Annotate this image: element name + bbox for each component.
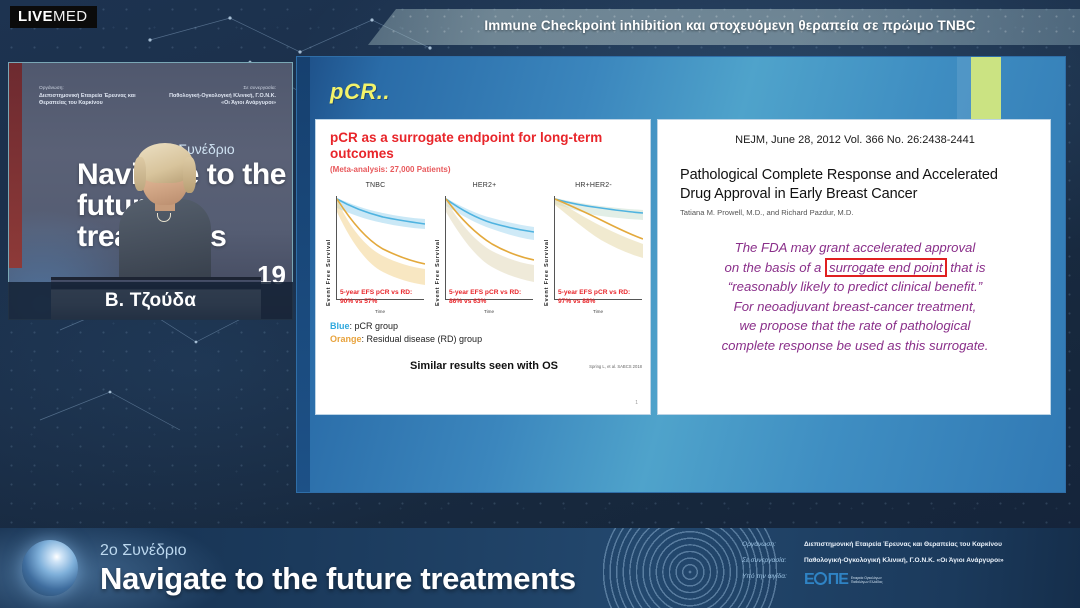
quote-line-2-prefix: on the basis of a [725,260,825,275]
logo-med-text: MED [53,8,88,25]
pcr-heading: pCR as a surrogate endpoint for long-ter… [330,130,630,162]
credit-auspices-label: Υπό την αιγίδα: [742,572,804,581]
backdrop-cooperation-value: Παθολογική-Ογκολογική Κλινική, Γ.Ο.Ν.Κ. … [161,93,276,108]
credit-row-organizer: Οργάνωση: Διεπιστημονική Εταιρεία Έρευνα… [742,540,1072,549]
quote-line-2-suffix: that is [947,260,986,275]
fda-quote: The FDA may grant accelerated approval o… [674,238,1036,355]
chart-tnbc-annotation: 5-year EFS pCR vs RD: 90% vs 57% [340,288,424,306]
credit-row-cooperation: Σε συνεργασία: Παθολογική-Ογκολογική Κλι… [742,556,1072,565]
chart-tnbc-title: TNBC [324,182,427,189]
chart-her2pos-plot [445,196,533,300]
quote-line-6: complete response be used as this surrog… [722,338,989,353]
eope-logo-circle [814,572,827,585]
chart-citation: Spring L, et al. SABCS 2018 [589,364,642,369]
banner-orb-logo [22,540,78,596]
legend-orange-row: Orange: Residual disease (RD) group [330,333,482,346]
speaker-figure [117,147,213,297]
survival-charts-group: TNBC Event Free Survival 5-year EFS pCR … [324,182,646,312]
speaker-name-label: Β. Τζούδα [105,290,196,312]
speaker-name-bar: Β. Τζούδα [8,282,293,320]
quote-line-1: The FDA may grant accelerated approval [735,240,976,255]
nejm-reference: NEJM, June 28, 2012 Vol. 366 No. 26:2438… [658,134,1051,146]
legend-blue-row: Blue: pCR group [330,320,482,333]
pcr-subheading: (Meta-analysis: 27,000 Patients) [330,165,451,174]
chart-tnbc-plot [336,196,424,300]
backdrop-cooperation-text: Σε συνεργασία: Παθολογική-Ογκολογική Κλι… [161,85,276,108]
chart-legend: Blue: pCR group Orange: Residual disease… [330,320,482,346]
chart-tnbc-ylabel: Event Free Survival [326,198,332,306]
chart-hrpos-her2neg-plot [554,196,642,300]
eope-logo-mark: EΠE [804,572,848,588]
nejm-authors: Tatiana M. Prowell, M.D., and Richard Pa… [680,208,1032,217]
chart-her2pos-ylabel: Event Free Survival [435,198,441,306]
quote-line-5: we propose that the rate of pathological [740,318,971,333]
broadcast-stage: LIVEMED Immune Checkpoint inhibition και… [0,0,1080,608]
eope-logo-subtext: Εταιρεία Ογκολόγων Παθολόγων Ελλάδας [851,576,895,584]
top-header: LIVEMED Immune Checkpoint inhibition και… [0,0,1080,48]
backdrop-cooperation-label: Σε συνεργασία: [161,85,276,93]
speaker-hair [137,143,193,183]
page-title: Immune Checkpoint inhibition και στοχευό… [400,18,1060,33]
chart-hrpos-her2neg-ylabel: Event Free Survival [544,198,550,306]
legend-orange-text: : Residual disease (RD) group [362,334,483,344]
bottom-banner: 2ο Συνέδριο Navigate to the future treat… [0,528,1080,608]
credit-cooperation-label: Σε συνεργασία: [742,556,804,565]
banner-subtitle: 2ο Συνέδριο [100,542,186,560]
legend-orange-key: Orange [330,334,362,344]
chart-her2pos-xlabel: Time [445,309,533,314]
slide-title: pCR.. [330,79,390,105]
slide-right-card: NEJM, June 28, 2012 Vol. 366 No. 26:2438… [657,119,1051,415]
chart-hrpos-her2neg: HR+HER2- Event Free Survival 5-year EFS … [542,182,645,312]
slide-green-accent [971,57,1001,119]
chart-hrpos-her2neg-annotation: 5-year EFS pCR vs RD: 97% vs 88% [558,288,642,306]
legend-blue-text: : pCR group [350,321,399,331]
chart-her2pos-annotation: 5-year EFS pCR vs RD: 86% vs 63% [449,288,533,306]
backdrop-organizer-label: Οργάνωση: [39,85,149,93]
slide-accent-gap [957,57,971,119]
chart-hrpos-her2neg-title: HR+HER2- [542,182,645,189]
legend-blue-key: Blue [330,321,350,331]
logo-live-text: LIVE [18,8,53,25]
eope-logo: EΠE Εταιρεία Ογκολόγων Παθολόγων Ελλάδας [804,572,895,588]
banner-title: Navigate to the future treatments [100,561,576,597]
credit-cooperation-value: Παθολογική-Ογκολογική Κλινική, Γ.Ο.Ν.Κ. … [804,556,1004,565]
backdrop-organizer-value: Διεπιστημονική Εταιρεία Έρευνας και Θερα… [39,93,149,108]
backdrop-organizer-text: Οργάνωση: Διεπιστημονική Εταιρεία Έρευνα… [39,85,149,108]
credit-row-auspices: Υπό την αιγίδα: EΠE Εταιρεία Ογκολόγων Π… [742,572,1072,588]
banner-credits: Οργάνωση: Διεπιστημονική Εταιρεία Έρευνα… [742,540,1072,595]
slide-page-number: 1 [635,400,638,406]
credit-organizer-label: Οργάνωση: [742,540,804,549]
livemed-logo: LIVEMED [10,6,97,28]
chart-her2pos: HER2+ Event Free Survival 5-year EFS pCR… [433,182,536,312]
chart-hrpos-her2neg-xlabel: Time [554,309,642,314]
quote-line-4: For neoadjuvant breast-cancer treatment, [734,299,977,314]
credit-organizer-value: Διεπιστημονική Εταιρεία Έρευνας και Θερα… [804,540,1002,549]
backdrop-red-stripe [9,63,22,268]
chart-tnbc: TNBC Event Free Survival 5-year EFS pCR … [324,182,427,312]
nejm-article-title: Pathological Complete Response and Accel… [680,166,1032,204]
presentation-slide[interactable]: pCR.. pCR as a surrogate endpoint for lo… [296,56,1066,493]
chart-her2pos-title: HER2+ [433,182,536,189]
chart-tnbc-xlabel: Time [336,309,424,314]
slide-left-accent-bar [297,57,310,493]
slide-left-card: pCR as a surrogate endpoint for long-ter… [315,119,651,415]
surrogate-endpoint-highlight: surrogate end point [825,258,947,277]
quote-line-3: “reasonably likely to predict clinical b… [728,279,982,294]
